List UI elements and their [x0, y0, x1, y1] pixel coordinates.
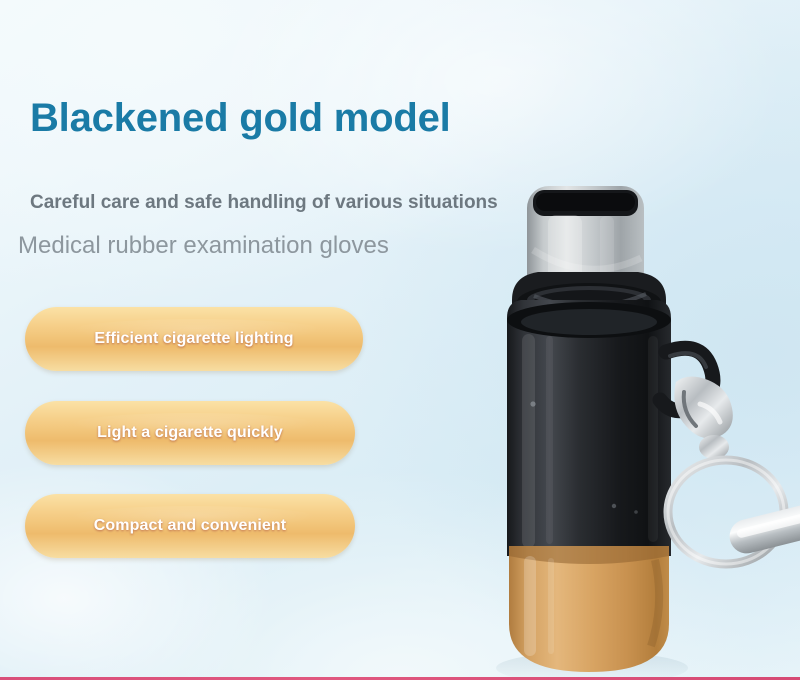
feature-badge-body: Light a cigarette quickly	[31, 407, 349, 459]
feature-badge-label: Light a cigarette quickly	[97, 424, 283, 442]
feature-badge[interactable]: Light a cigarette quickly	[25, 401, 355, 465]
product-gold-base	[509, 546, 669, 672]
page-title: Blackened gold model	[30, 96, 451, 141]
feature-badge[interactable]: Efficient cigarette lighting	[25, 307, 363, 371]
feature-badge-label: Efficient cigarette lighting	[94, 330, 293, 348]
subtitle-primary: Careful care and safe handling of variou…	[30, 192, 498, 214]
subtitle-secondary: Medical rubber examination gloves	[18, 232, 389, 260]
product-banner: Blackened gold model Careful care and sa…	[0, 0, 800, 680]
feature-badge-body: Efficient cigarette lighting	[31, 313, 357, 365]
feature-badge-body: Compact and convenient	[31, 500, 349, 552]
feature-badge-label: Compact and convenient	[94, 517, 286, 535]
product-body	[507, 300, 671, 556]
keychain-assembly	[660, 348, 800, 564]
feature-badge[interactable]: Compact and convenient	[25, 494, 355, 558]
